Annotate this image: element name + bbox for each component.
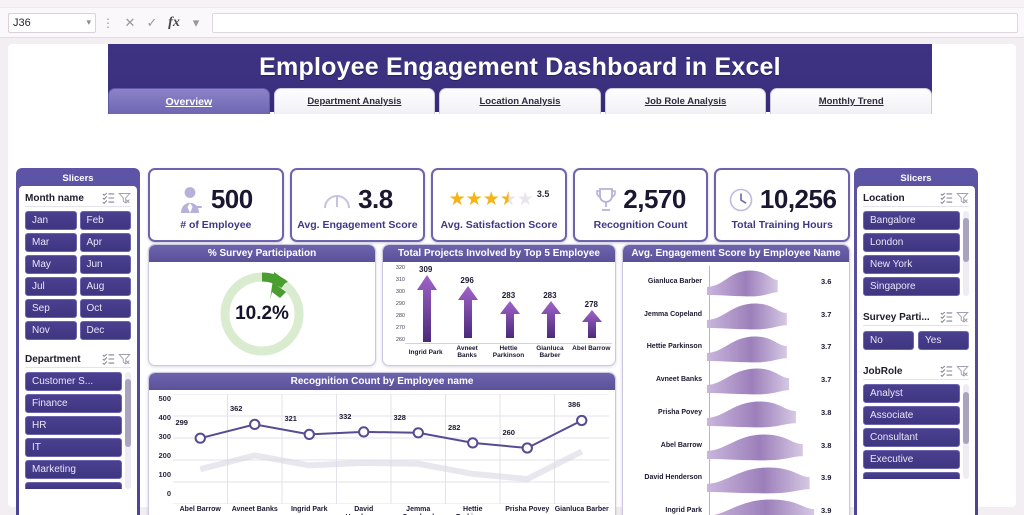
ribbon-row: Prisha Povey 3.8 — [623, 396, 845, 429]
slicer-item-singapore[interactable]: Singapore — [863, 277, 960, 296]
kpi-card-row: 500 # of Employee 3.8 Avg. Engagement Sc… — [148, 168, 850, 242]
bar-value: 309 — [419, 265, 432, 274]
slicer-header-department: Department — [25, 352, 131, 368]
ribbon-value: 3.6 — [821, 277, 845, 286]
y-tick: 310 — [385, 277, 405, 283]
right-slicer-panel-title: Slicers — [857, 171, 975, 186]
y-tick: 270 — [385, 325, 405, 331]
ribbon-label: Ingrid Park — [623, 507, 707, 514]
y-tick: 290 — [385, 301, 405, 307]
bar-group: 283 Hettie Parkinson — [488, 265, 529, 365]
ribbon-row: Hettie Parkinson 3.7 — [623, 331, 845, 364]
jobrole-slicer-scrollbar[interactable] — [963, 384, 969, 479]
slicer-item-clipped[interactable] — [863, 472, 960, 479]
bar-label: Abel Barrow — [572, 345, 610, 365]
tab-monthly-trend[interactable]: Monthly Trend — [770, 88, 932, 114]
ribbon-label: Gianluca Barber — [623, 278, 707, 285]
slicer-header-jobrole: JobRole — [863, 364, 969, 380]
ribbon-row: Gianluca Barber 3.6 — [623, 265, 845, 298]
tab-location-analysis[interactable]: Location Analysis — [439, 88, 601, 114]
slicer-group-jobrole: JobRole Analyst Associate — [863, 364, 969, 479]
y-tick: 400 — [151, 413, 171, 422]
slicer-item-may[interactable]: May — [25, 255, 77, 274]
y-tick: 280 — [385, 313, 405, 319]
multi-select-icon[interactable] — [940, 311, 953, 323]
dashboard-canvas: Employee Engagement Dashboard in Excel O… — [0, 38, 1024, 515]
formula-expand-icon[interactable]: ▾ — [186, 13, 206, 33]
scrollbar-thumb[interactable] — [963, 392, 969, 444]
tab-overview[interactable]: Overview — [108, 88, 270, 114]
slicer-item-sep[interactable]: Sep — [25, 299, 77, 318]
bar-group: 309 Ingrid Park — [405, 265, 446, 365]
line-plot-area: 299 362 321 332 328 282 260 386 — [173, 394, 609, 504]
ribbon-bar-shape — [707, 429, 821, 462]
kpi-value-recognition-count: 2,570 — [623, 184, 686, 215]
ribbon-label: Avneet Banks — [623, 376, 707, 383]
confirm-icon[interactable]: ✓ — [142, 13, 162, 33]
kpi-label-satisfaction-score: Avg. Satisfaction Score — [441, 220, 558, 231]
slicer-item-it[interactable]: IT — [25, 438, 122, 457]
chevron-down-icon[interactable]: ▾ — [86, 17, 91, 28]
slicer-item-clipped[interactable] — [25, 482, 122, 489]
kpi-value-employee-count: 500 — [211, 184, 253, 215]
slicer-item-marketing[interactable]: Marketing — [25, 460, 122, 479]
slicer-header-month-name: Month name — [25, 191, 131, 207]
kpi-card-recognition-count: 2,570 Recognition Count — [573, 168, 709, 242]
bar-group: 278 Abel Barrow — [571, 265, 612, 365]
y-tick: 320 — [385, 265, 405, 271]
ribbon-bar-shape — [707, 396, 821, 429]
y-axis-ticks: 320 310 300 290 280 270 260 — [385, 265, 405, 343]
bar-value: 283 — [543, 291, 556, 300]
total-projects-chart: 320 310 300 290 280 270 260 309 — [383, 262, 615, 365]
bar-label: Gianluca Barber — [529, 345, 570, 365]
page-title: Employee Engagement Dashboard in Excel — [259, 53, 781, 82]
survey-participation-options: No Yes — [863, 331, 969, 350]
arrow-bar-shape — [581, 310, 601, 343]
arrow-bar-shape — [540, 301, 560, 343]
arrow-bar-shape — [416, 275, 436, 347]
slicer-item-hr[interactable]: HR — [25, 416, 122, 435]
name-box-value: J36 — [13, 17, 86, 29]
ribbon-label: Hettie Parkinson — [623, 343, 707, 350]
arrow-bar-shape — [457, 286, 477, 343]
scrollbar-thumb[interactable] — [963, 218, 969, 262]
right-slicer-body: Location Bangalore London — [857, 186, 975, 515]
x-tick: Jemma Copeland — [391, 506, 446, 515]
kpi-value-engagement-score: 3.8 — [358, 184, 393, 215]
slicer-item-london[interactable]: London — [863, 233, 960, 252]
tab-department-analysis[interactable]: Department Analysis — [274, 88, 436, 114]
ribbon-row: David Henderson 3.9 — [623, 462, 845, 495]
slicer-title-survey-participation: Survey Parti... — [863, 312, 937, 323]
clock-icon — [728, 187, 754, 213]
star-empty-icon: ★ — [517, 190, 534, 209]
location-slicer-list: Bangalore London New York Singapore — [863, 211, 969, 296]
slicer-item-finance[interactable]: Finance — [25, 394, 122, 413]
bar-value: 283 — [502, 291, 515, 300]
ribbon-value: 3.8 — [821, 441, 845, 450]
bar-label: Ingrid Park — [409, 349, 443, 365]
bar-group: 296 Avneet Banks — [446, 265, 487, 365]
kpi-card-engagement-score: 3.8 Avg. Engagement Score — [290, 168, 426, 242]
total-projects-title: Total Projects Involved by Top 5 Employe… — [383, 245, 615, 262]
kpi-card-satisfaction-score: ★ ★ ★ ★ ★ 3.5 Avg. Satisfaction Score — [431, 168, 567, 242]
left-slicer-panel-title: Slicers — [19, 171, 137, 186]
clear-filter-icon[interactable] — [118, 192, 131, 204]
slicer-item-nov[interactable]: Nov — [25, 321, 77, 340]
bar-value: 278 — [585, 300, 598, 309]
ribbon-value: 3.7 — [821, 342, 845, 351]
bar-label: Hettie Parkinson — [488, 345, 529, 365]
recognition-count-chart: 500 400 300 200 100 0 — [149, 390, 615, 515]
slicer-item-customer-service[interactable]: Customer S... — [25, 372, 122, 391]
slicer-item-feb[interactable]: Feb — [80, 211, 132, 230]
kpi-label-recognition-count: Recognition Count — [594, 220, 688, 231]
x-tick: Avneet Banks — [228, 506, 283, 515]
multi-select-icon[interactable] — [102, 192, 115, 204]
ribbon-value: 3.7 — [821, 375, 845, 384]
cancel-icon[interactable]: ✕ — [120, 13, 140, 33]
nav-tabs: Overview Department Analysis Location An… — [108, 88, 932, 114]
kpi-label-engagement-score: Avg. Engagement Score — [297, 220, 417, 231]
y-axis-ticks: 500 400 300 200 100 0 — [151, 394, 171, 498]
arrow-bar-shape — [499, 301, 519, 343]
person-icon — [179, 185, 205, 215]
ribbon-bar-shape — [707, 331, 821, 364]
x-tick: Hettie Parkinson — [446, 506, 501, 515]
ribbon-row: Jemma Copeland 3.7 — [623, 298, 845, 331]
ribbon-bar-shape — [707, 265, 821, 298]
survey-participation-card: % Survey Participation 10.2% — [148, 244, 376, 366]
slicer-item-bangalore[interactable]: Bangalore — [863, 211, 960, 230]
ribbon-value: 3.8 — [821, 408, 845, 417]
slicer-title-department: Department — [25, 354, 99, 365]
location-slicer-scrollbar[interactable] — [963, 211, 969, 296]
slicer-item-associate[interactable]: Associate — [863, 406, 960, 425]
ribbon-bar-shape — [707, 462, 821, 495]
slicer-title-month-name: Month name — [25, 193, 99, 204]
slicer-group-department: Department Customer S... — [25, 352, 131, 489]
slicer-item-oct[interactable]: Oct — [80, 299, 132, 318]
star-full-icon: ★ — [466, 190, 483, 209]
formula-bar: J36 ▾ ⋮ ✕ ✓ fx ▾ — [0, 8, 1024, 38]
recognition-count-title: Recognition Count by Employee name — [149, 373, 615, 390]
x-tick: Prisha Povey — [500, 506, 555, 515]
y-tick: 260 — [385, 337, 405, 343]
left-slicer-body: Month name Jan Feb Mar — [19, 186, 137, 515]
ribbon-label: David Henderson — [623, 474, 707, 481]
kpi-label-employee-count: # of Employee — [180, 220, 251, 231]
y-tick: 300 — [385, 289, 405, 295]
month-slicer-grid: Jan Feb Mar Apr May Jun Jul Aug Sep Oct … — [25, 211, 131, 340]
kpi-value-satisfaction-score: 3.5 — [537, 190, 550, 199]
slicer-item-apr[interactable]: Apr — [80, 233, 132, 252]
y-tick: 100 — [151, 470, 171, 479]
kpi-value-training-hours: 10,256 — [760, 184, 837, 215]
slicer-group-survey-participation: Survey Parti... No Yes — [863, 310, 969, 350]
slicer-item-analyst[interactable]: Analyst — [863, 384, 960, 403]
total-projects-card: Total Projects Involved by Top 5 Employe… — [382, 244, 616, 366]
recognition-count-card: Recognition Count by Employee name 500 4… — [148, 372, 616, 515]
multi-select-icon[interactable] — [940, 365, 953, 377]
department-slicer-scrollbar[interactable] — [125, 372, 131, 489]
y-tick: 0 — [151, 489, 171, 498]
y-tick: 200 — [151, 451, 171, 460]
ribbon-label: Abel Barrow — [623, 442, 707, 449]
slicer-item-yes[interactable]: Yes — [918, 331, 969, 350]
star-full-icon: ★ — [483, 190, 500, 209]
ribbon-value: 3.7 — [821, 310, 845, 319]
kpi-card-employee-count: 500 # of Employee — [148, 168, 284, 242]
engagement-by-employee-title: Avg. Engagement Score by Employee Name — [623, 245, 849, 262]
right-slicer-panel: Slicers Location — [854, 168, 978, 515]
slicer-item-no[interactable]: No — [863, 331, 914, 350]
formula-input[interactable] — [212, 13, 1018, 33]
engagement-by-employee-card: Avg. Engagement Score by Employee Name G… — [622, 244, 850, 515]
ribbon-bar-shape — [707, 298, 821, 331]
clear-filter-icon[interactable] — [118, 353, 131, 365]
bar-group: 283 Gianluca Barber — [529, 265, 570, 365]
kpi-card-training-hours: 10,256 Total Training Hours — [714, 168, 850, 242]
ribbon-value: 3.9 — [821, 473, 845, 482]
clear-filter-icon[interactable] — [956, 192, 969, 204]
slicer-item-jan[interactable]: Jan — [25, 211, 77, 230]
slicer-item-aug[interactable]: Aug — [80, 277, 132, 296]
slicer-item-executive[interactable]: Executive — [863, 450, 960, 469]
line-series — [173, 394, 609, 504]
kebab-menu-icon[interactable]: ⋮ — [98, 13, 118, 33]
slicer-item-jul[interactable]: Jul — [25, 277, 77, 296]
clear-filter-icon[interactable] — [956, 365, 969, 377]
star-half-icon: ★ — [500, 190, 517, 209]
name-box[interactable]: J36 ▾ — [8, 13, 96, 33]
ribbon-row: Ingrid Park 3.9 — [623, 494, 845, 515]
y-tick: 300 — [151, 432, 171, 441]
slicer-item-mar[interactable]: Mar — [25, 233, 77, 252]
gauge-icon — [322, 189, 352, 211]
x-tick: Abel Barrow — [173, 506, 228, 515]
x-axis-labels: Abel Barrow Avneet Banks Ingrid Park Dav… — [173, 506, 609, 515]
ribbon-bar-shape — [707, 363, 821, 396]
slicer-group-location: Location Bangalore London — [863, 191, 969, 296]
trophy-icon — [595, 187, 617, 213]
slicer-title-jobrole: JobRole — [863, 366, 937, 377]
bar-value: 296 — [460, 276, 473, 285]
star-rating-icon: ★ ★ ★ ★ ★ 3.5 — [449, 190, 550, 209]
multi-select-icon[interactable] — [940, 192, 953, 204]
ribbon-bar-shape — [707, 494, 821, 515]
excel-top-strip — [0, 0, 1024, 8]
survey-participation-title: % Survey Participation — [149, 245, 375, 262]
function-icon[interactable]: fx — [164, 13, 184, 33]
arrow-bars: 309 Ingrid Park 296 — [405, 265, 612, 365]
jobrole-slicer-list: Analyst Associate Consultant Executive — [863, 384, 969, 479]
slicer-header-survey-participation: Survey Parti... — [863, 310, 969, 326]
slicer-item-consultant[interactable]: Consultant — [863, 428, 960, 447]
slicer-header-location: Location — [863, 191, 969, 207]
tab-job-role-analysis[interactable]: Job Role Analysis — [605, 88, 767, 114]
scrollbar-thumb[interactable] — [125, 379, 131, 447]
clear-filter-icon[interactable] — [956, 311, 969, 323]
x-tick: Gianluca Barber — [555, 506, 610, 515]
slicer-item-dec[interactable]: Dec — [80, 321, 132, 340]
left-slicer-panel: Slicers Month name — [16, 168, 140, 515]
slicer-item-jun[interactable]: Jun — [80, 255, 132, 274]
ribbon-row: Abel Barrow 3.8 — [623, 429, 845, 462]
multi-select-icon[interactable] — [102, 353, 115, 365]
x-tick: David Henderson — [337, 506, 392, 515]
ribbon-label: Prisha Povey — [623, 409, 707, 416]
engagement-ribbon-chart: Gianluca Barber 3.6 Jemma Copeland — [623, 262, 849, 515]
slicer-group-month-name: Month name Jan Feb Mar — [25, 191, 131, 340]
survey-participation-donut: 10.2% — [149, 262, 375, 365]
bar-label: Avneet Banks — [446, 345, 487, 365]
y-tick: 500 — [151, 394, 171, 403]
survey-participation-value: 10.2% — [149, 303, 375, 325]
ribbon-label: Jemma Copeland — [623, 311, 707, 318]
x-tick: Ingrid Park — [282, 506, 337, 515]
slicer-title-location: Location — [863, 193, 937, 204]
ribbon-value: 3.9 — [821, 506, 845, 515]
star-full-icon: ★ — [449, 190, 466, 209]
ribbon-row: Avneet Banks 3.7 — [623, 363, 845, 396]
department-slicer-list: Customer S... Finance HR IT Marketing — [25, 372, 131, 489]
dashboard-board: Employee Engagement Dashboard in Excel O… — [8, 44, 1016, 507]
kpi-label-training-hours: Total Training Hours — [732, 220, 833, 231]
slicer-item-new-york[interactable]: New York — [863, 255, 960, 274]
